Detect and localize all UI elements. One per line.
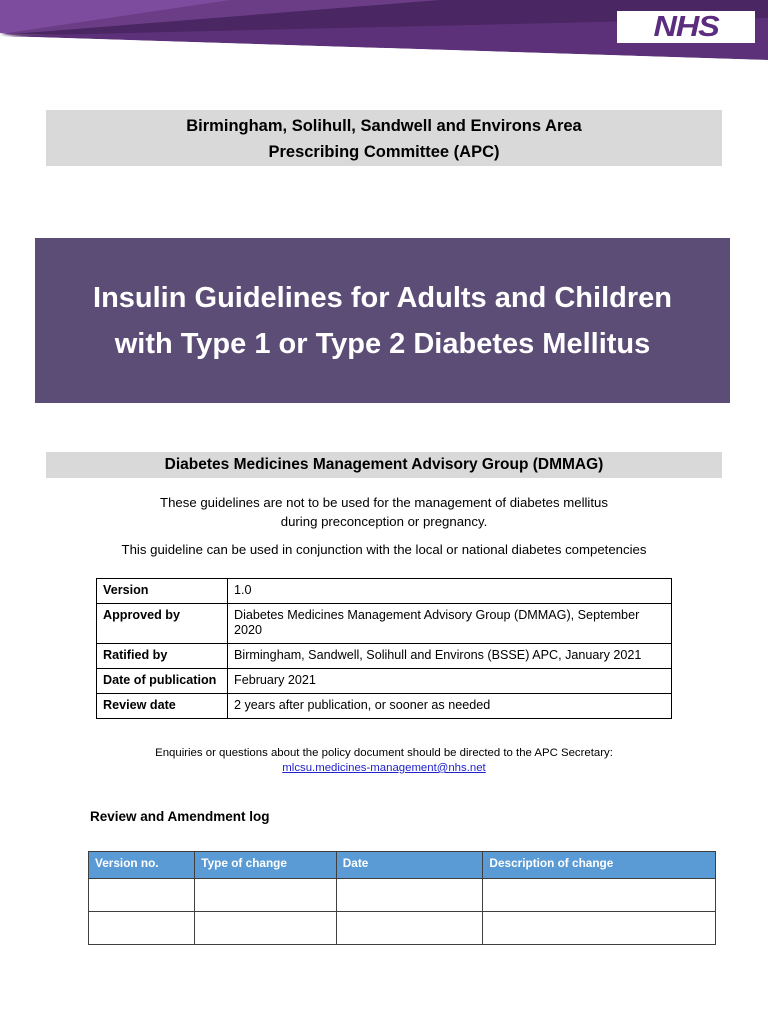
nhs-header-banner: NHS bbox=[0, 0, 768, 62]
ratified-by-value: Birmingham, Sandwell, Solihull and Envir… bbox=[228, 644, 672, 669]
page-title-line1: Insulin Guidelines for Adults and Childr… bbox=[93, 275, 672, 321]
page-title-line2: with Type 1 or Type 2 Diabetes Mellitus bbox=[93, 321, 672, 367]
column-header-type-of-change: Type of change bbox=[195, 852, 336, 879]
table-row bbox=[89, 912, 716, 945]
review-date-value: 2 years after publication, or sooner as … bbox=[228, 694, 672, 719]
cell-description-of-change[interactable] bbox=[483, 912, 716, 945]
document-title-block: Insulin Guidelines for Adults and Childr… bbox=[35, 238, 730, 403]
review-date-label: Review date bbox=[97, 694, 228, 719]
cell-version-no[interactable] bbox=[89, 912, 195, 945]
approved-by-value: Diabetes Medicines Management Advisory G… bbox=[228, 604, 672, 644]
intro-paragraph-1-line2: during preconception or pregnancy. bbox=[46, 512, 722, 531]
dmmag-banner: Diabetes Medicines Management Advisory G… bbox=[46, 452, 722, 478]
cell-version-no[interactable] bbox=[89, 879, 195, 912]
intro-paragraph-1-line1: These guidelines are not to be used for … bbox=[46, 493, 722, 512]
approved-by-label: Approved by bbox=[97, 604, 228, 644]
version-label: Version bbox=[97, 579, 228, 604]
table-row: Version 1.0 bbox=[97, 579, 672, 604]
version-value: 1.0 bbox=[228, 579, 672, 604]
cell-date[interactable] bbox=[336, 912, 483, 945]
nhs-logo: NHS bbox=[617, 11, 755, 43]
amendment-log-table: Version no. Type of change Date Descript… bbox=[88, 851, 716, 945]
cell-description-of-change[interactable] bbox=[483, 879, 716, 912]
cell-type-of-change[interactable] bbox=[195, 879, 336, 912]
intro-paragraph-2: This guideline can be used in conjunctio… bbox=[46, 540, 722, 559]
table-row bbox=[89, 879, 716, 912]
table-header-row: Version no. Type of change Date Descript… bbox=[89, 852, 716, 879]
nhs-logo-text: NHS bbox=[653, 13, 718, 42]
committee-banner-line2: Prescribing Committee (APC) bbox=[46, 139, 722, 165]
apc-secretary-email-link[interactable]: mlcsu.medicines-management@nhs.net bbox=[282, 762, 485, 774]
ratified-by-label: Ratified by bbox=[97, 644, 228, 669]
column-header-version-no: Version no. bbox=[89, 852, 195, 879]
date-of-publication-value: February 2021 bbox=[228, 669, 672, 694]
table-row: Date of publication February 2021 bbox=[97, 669, 672, 694]
amendment-log-heading: Review and Amendment log bbox=[90, 809, 270, 824]
committee-banner-line1: Birmingham, Solihull, Sandwell and Envir… bbox=[46, 113, 722, 139]
table-row: Ratified by Birmingham, Sandwell, Solihu… bbox=[97, 644, 672, 669]
enquiries-block: Enquiries or questions about the policy … bbox=[46, 746, 722, 776]
committee-banner: Birmingham, Solihull, Sandwell and Envir… bbox=[46, 110, 722, 166]
version-details-table: Version 1.0 Approved by Diabetes Medicin… bbox=[96, 578, 672, 719]
column-header-description-of-change: Description of change bbox=[483, 852, 716, 879]
date-of-publication-label: Date of publication bbox=[97, 669, 228, 694]
cell-type-of-change[interactable] bbox=[195, 912, 336, 945]
intro-paragraph-1: These guidelines are not to be used for … bbox=[46, 493, 722, 531]
column-header-date: Date bbox=[336, 852, 483, 879]
enquiries-text: Enquiries or questions about the policy … bbox=[46, 746, 722, 761]
cell-date[interactable] bbox=[336, 879, 483, 912]
table-row: Approved by Diabetes Medicines Managemen… bbox=[97, 604, 672, 644]
table-row: Review date 2 years after publication, o… bbox=[97, 694, 672, 719]
